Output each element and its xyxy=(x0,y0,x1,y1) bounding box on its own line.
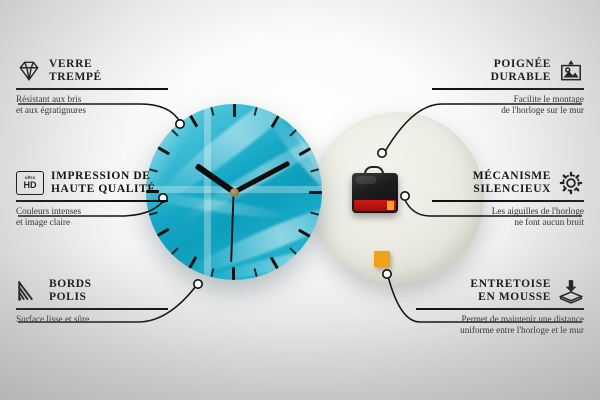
gear-icon xyxy=(558,170,584,196)
divider xyxy=(16,200,168,202)
foam-spacer-icon xyxy=(558,278,584,304)
feature-description: Résistant aux bris et aux égratignures xyxy=(16,94,168,116)
feature-header: VERRE TREMPÉ xyxy=(16,58,168,84)
feature-entretoise-en-mousse: ENTRETOISE EN MOUSSE Permet de maintenir… xyxy=(416,278,584,336)
infographic-canvas: VERRE TREMPÉ Résistant aux bris et aux é… xyxy=(0,0,600,400)
feature-impression-haute-qualite: ultra HD IMPRESSION DE HAUTE QUALITÉ Cou… xyxy=(16,170,168,228)
feature-title: POIGNÉE DURABLE xyxy=(491,58,551,84)
leader-dot-verre xyxy=(176,120,184,128)
feature-verre-trempe: VERRE TREMPÉ Résistant aux bris et aux é… xyxy=(16,58,168,116)
diamond-icon xyxy=(16,58,42,84)
leader-dot-poignee xyxy=(378,149,386,157)
feature-header: MÉCANISME SILENCIEUX xyxy=(432,170,584,196)
feature-title: ENTRETOISE EN MOUSSE xyxy=(470,278,551,304)
feature-header: BORDS POLIS xyxy=(16,278,168,304)
divider xyxy=(16,88,168,90)
feature-title: IMPRESSION DE HAUTE QUALITÉ xyxy=(51,170,156,196)
feature-description: Les aiguilles de l'horloge ne font aucun… xyxy=(432,206,584,228)
feature-description: Couleurs intenses et image claire xyxy=(16,206,168,228)
leader-dot-entretoise xyxy=(383,270,391,278)
divider xyxy=(432,200,584,202)
feature-description: Permet de maintenir une distance uniform… xyxy=(416,314,584,336)
feature-header: ultra HD IMPRESSION DE HAUTE QUALITÉ xyxy=(16,170,168,196)
feature-header: POIGNÉE DURABLE xyxy=(432,58,584,84)
feature-title: MÉCANISME SILENCIEUX xyxy=(473,170,551,196)
leader-dot-mecanisme xyxy=(401,192,409,200)
ultra-hd-icon: ultra HD xyxy=(16,171,44,195)
divider xyxy=(416,308,584,310)
feature-mecanisme-silencieux: MÉCANISME SILENCIEUX Les aiguilles d xyxy=(432,170,584,228)
feature-poignee-durable: POIGNÉE DURABLE Facilite le montage de l… xyxy=(432,58,584,116)
feature-description: Surface lisse et sûre xyxy=(16,314,168,325)
polished-edges-icon xyxy=(16,278,42,304)
divider xyxy=(16,308,168,310)
leader-dot-bords xyxy=(194,280,202,288)
feature-header: ENTRETOISE EN MOUSSE xyxy=(416,278,584,304)
feature-description: Facilite le montage de l'horloge sur le … xyxy=(432,94,584,116)
wall-hanger-icon xyxy=(558,58,584,84)
ultra-hd-large-label: HD xyxy=(24,181,37,191)
feature-bords-polis: BORDS POLIS Surface lisse et sûre xyxy=(16,278,168,325)
feature-title: BORDS POLIS xyxy=(49,278,92,304)
feature-title: VERRE TREMPÉ xyxy=(49,58,102,84)
divider xyxy=(432,88,584,90)
